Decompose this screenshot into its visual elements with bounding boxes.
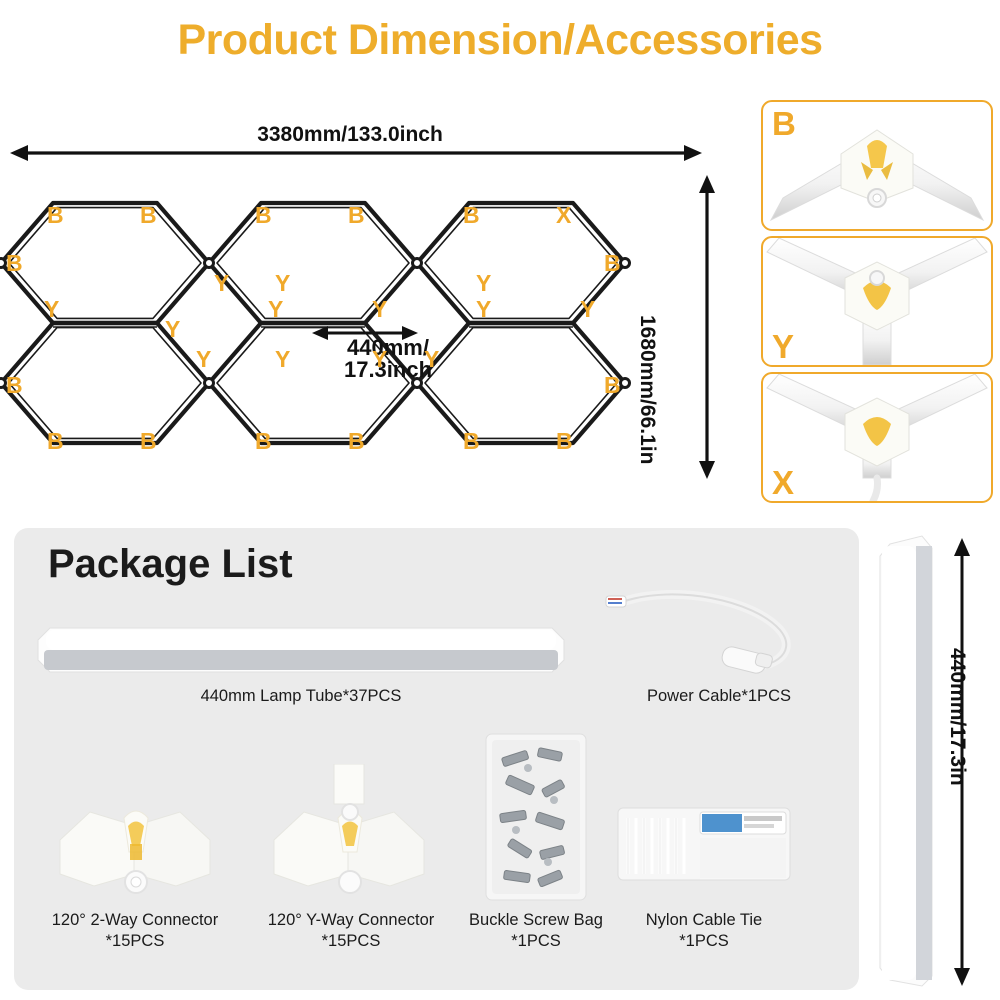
connector-panel-y: Y <box>761 236 993 367</box>
label-x: X <box>556 202 572 228</box>
label-b: B <box>556 428 573 454</box>
label-y: Y <box>372 296 387 322</box>
caption-text: Buckle Screw Bag <box>469 911 603 929</box>
caption-text: 440mm Lamp Tube*37PCS <box>201 687 402 705</box>
label-y: Y <box>275 346 290 372</box>
caption-qty: *1PCS <box>511 932 561 950</box>
label-y: Y <box>476 296 491 322</box>
caption-qty: *15PCS <box>322 932 381 950</box>
label-y: Y <box>275 270 290 296</box>
y-way-connector-icon <box>763 238 991 365</box>
label-b: B <box>348 428 365 454</box>
label-b: B <box>47 428 64 454</box>
caption-lamp-tube: 440mm Lamp Tube*37PCS <box>36 686 566 707</box>
package-list-card: Package List 440mm Lamp Tube*37PCS Power… <box>14 528 859 990</box>
nylon-cable-tie-image <box>614 778 794 906</box>
panel-x-label: X <box>772 466 794 499</box>
caption-text: Power Cable*1PCS <box>647 687 791 705</box>
connector-letter-labels: B B B Y Y B B B B B Y Y Y Y Y Y Y Y <box>0 105 745 505</box>
caption-buckle-screw-bag: Buckle Screw Bag *1PCS <box>446 910 626 951</box>
caption-text: 120° 2-Way Connector <box>52 911 218 929</box>
panel-y-label: Y <box>772 330 794 363</box>
label-b: B <box>47 202 64 228</box>
caption-text: Nylon Cable Tie <box>646 911 762 929</box>
two-way-connector-image <box>50 778 220 903</box>
label-b: B <box>463 202 480 228</box>
label-y: Y <box>196 346 211 372</box>
caption-nylon-cable-tie: Nylon Cable Tie *1PCS <box>614 910 794 951</box>
connector-panel-x: X <box>761 372 993 503</box>
label-b: B <box>140 202 157 228</box>
caption-y-way-connector: 120° Y-Way Connector *15PCS <box>236 910 466 951</box>
label-y: Y <box>372 346 387 372</box>
caption-qty: *15PCS <box>106 932 165 950</box>
product-spec-page: Product Dimension/Accessories 3380mm/133… <box>0 0 1000 1000</box>
package-list-heading: Package List <box>48 542 293 587</box>
label-y: Y <box>476 270 491 296</box>
caption-power-cable: Power Cable*1PCS <box>604 686 834 707</box>
connector-panel-b: B <box>761 100 993 231</box>
label-y: Y <box>268 296 283 322</box>
y-way-connector-with-cable-icon <box>763 374 991 501</box>
label-b: B <box>348 202 365 228</box>
label-b: B <box>604 372 621 398</box>
vertical-lamp-tube-image <box>866 530 1000 992</box>
y-way-connector-image <box>264 764 434 904</box>
two-way-connector-icon <box>763 102 991 229</box>
dimension-diagram: 3380mm/133.0inch 1680mm/66.1in <box>0 105 745 505</box>
label-b: B <box>604 250 621 276</box>
label-b: B <box>255 428 272 454</box>
label-y: Y <box>44 296 59 322</box>
label-b: B <box>6 250 23 276</box>
caption-two-way-connector: 120° 2-Way Connector *15PCS <box>20 910 250 951</box>
label-y: Y <box>424 346 439 372</box>
panel-b-label: B <box>772 107 796 140</box>
vertical-lamp-tube-group: 440mm/17.3in <box>866 530 1000 992</box>
tube-length-label: 440mm/17.3in <box>945 648 969 786</box>
buckle-screw-bag-image <box>476 728 596 906</box>
page-title: Product Dimension/Accessories <box>0 16 1000 65</box>
label-y: Y <box>580 296 595 322</box>
label-b: B <box>463 428 480 454</box>
label-y: Y <box>214 270 229 296</box>
power-cable-image <box>604 590 834 685</box>
label-y: Y <box>165 316 180 342</box>
label-b: B <box>140 428 157 454</box>
label-b: B <box>6 372 23 398</box>
label-b: B <box>255 202 272 228</box>
lamp-tube-image <box>36 620 566 682</box>
caption-text: 120° Y-Way Connector <box>268 911 435 929</box>
caption-qty: *1PCS <box>679 932 729 950</box>
